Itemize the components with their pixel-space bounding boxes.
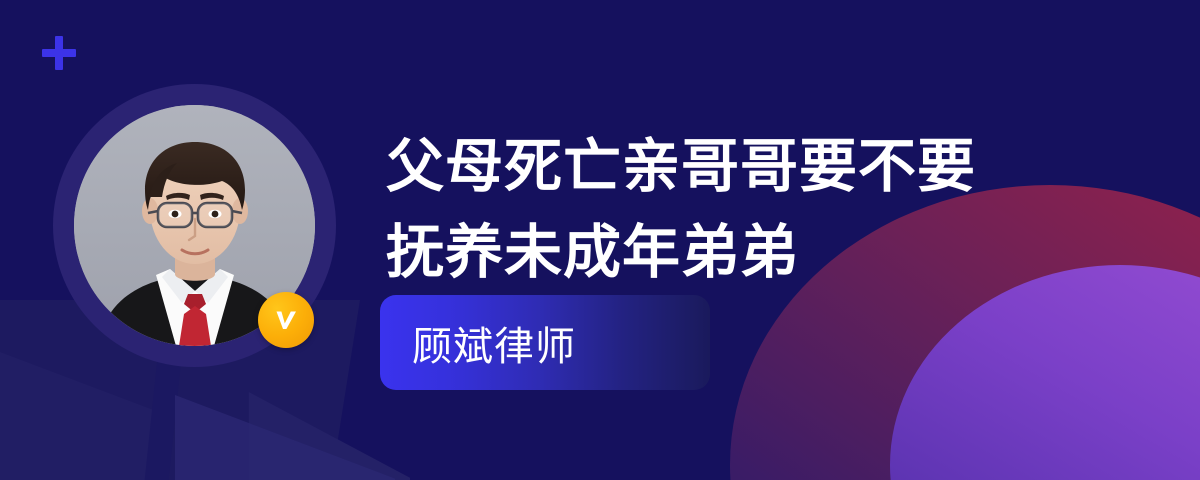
plus-icon bbox=[42, 36, 76, 70]
page-title: 父母死亡亲哥哥要不要抚养未成年弟弟 bbox=[386, 124, 1026, 296]
avatar bbox=[53, 84, 336, 367]
headline-block: 父母死亡亲哥哥要不要抚养未成年弟弟 bbox=[386, 124, 1086, 296]
lawyer-promo-banner: 父母死亡亲哥哥要不要抚养未成年弟弟 顾斌律师 bbox=[0, 0, 1200, 480]
lawyer-name-button[interactable]: 顾斌律师 bbox=[380, 295, 710, 390]
verified-badge bbox=[258, 292, 314, 348]
